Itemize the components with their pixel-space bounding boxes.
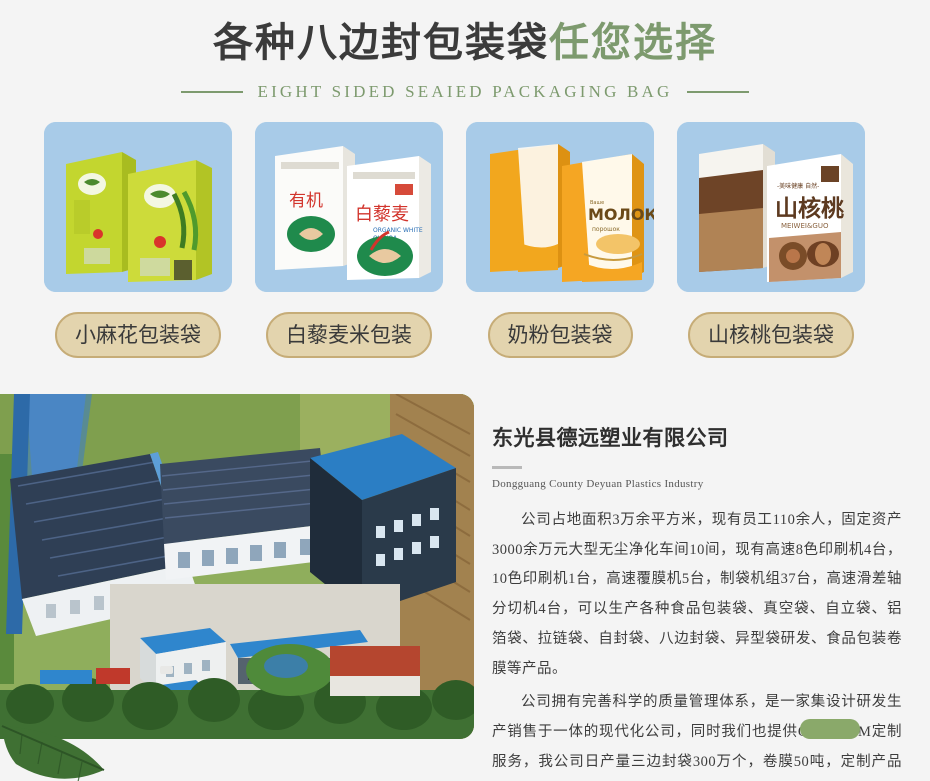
page-title-green: 任您选择 [549,20,717,65]
svg-text:порошок: порошок [592,226,620,233]
rule-left-icon [181,91,243,93]
company-name-en: Dongguang County Deyuan Plastics Industr… [492,478,902,490]
company-name: 东光县德远塑业有限公司 [492,422,902,452]
page-title: 各种八边封包装袋任您选择 [0,18,930,68]
svg-text:有机: 有机 [289,191,323,211]
packaging-bag-illustration-0 [44,122,232,292]
product-card-image-0[interactable] [44,122,232,292]
product-tag-2[interactable]: 奶粉包装袋 [488,312,633,358]
company-section: 东光县德远塑业有限公司 Dongguang County Deyuan Plas… [0,394,930,781]
product-tag-row: 小麻花包装袋 白藜麦米包装 奶粉包装袋 山核桃包装袋 [44,312,890,358]
subtitle-row: EIGHT SIDED SEAIED PACKAGING BAG [0,82,930,102]
svg-text:-美味健康 自然-: -美味健康 自然- [777,182,819,190]
page-header: 各种八边封包装袋任您选择 EIGHT SIDED SEAIED PACKAGIN… [0,0,930,102]
svg-text:МОЛОКО: МОЛОКО [588,205,654,224]
packaging-bag-illustration-1: 有机 白藜麦 ORGANIC WHITE QUINOA [255,122,443,292]
factory-photo [0,394,474,739]
page-root: 各种八边封包装袋任您选择 EIGHT SIDED SEAIED PACKAGIN… [0,0,930,781]
product-tag-cell-0: 小麻花包装袋 [44,312,232,358]
packaging-bag-illustration-2: Ваше МОЛОКО порошок [466,122,654,292]
company-name-divider [492,466,522,469]
svg-text:山核桃: 山核桃 [775,195,844,222]
learn-more-button[interactable] [800,719,860,739]
product-tag-3[interactable]: 山核桃包装袋 [688,312,854,358]
product-image-row: 有机 白藜麦 ORGANIC WHITE QUINOA [44,122,890,292]
rule-right-icon [687,91,749,93]
product-tag-1[interactable]: 白藜麦米包装 [266,312,432,358]
product-card-image-2[interactable]: Ваше МОЛОКО порошок [466,122,654,292]
packaging-bag-illustration-3: -美味健康 自然- 山核桃 MEIWEI&GUO [677,122,865,292]
product-tag-cell-3: 山核桃包装袋 [677,312,865,358]
product-grid: 有机 白藜麦 ORGANIC WHITE QUINOA [44,122,890,358]
product-card-image-1[interactable]: 有机 白藜麦 ORGANIC WHITE QUINOA [255,122,443,292]
svg-text:白藜麦: 白藜麦 [355,204,409,225]
page-subtitle: EIGHT SIDED SEAIED PACKAGING BAG [257,82,672,102]
page-title-dark: 各种八边封包装袋 [213,20,549,65]
svg-text:ORGANIC WHITE: ORGANIC WHITE [373,227,423,234]
company-paragraph-0: 公司占地面积3万余平方米，现有员工110余人，固定资产3000余万元大型无尘净化… [492,506,902,684]
product-card-image-3[interactable]: -美味健康 自然- 山核桃 MEIWEI&GUO [677,122,865,292]
svg-text:MEIWEI&GUO: MEIWEI&GUO [781,222,829,230]
factory-aerial-illustration [0,394,474,739]
product-tag-cell-2: 奶粉包装袋 [466,312,654,358]
product-tag-0[interactable]: 小麻花包装袋 [55,312,221,358]
product-tag-cell-1: 白藜麦米包装 [255,312,443,358]
